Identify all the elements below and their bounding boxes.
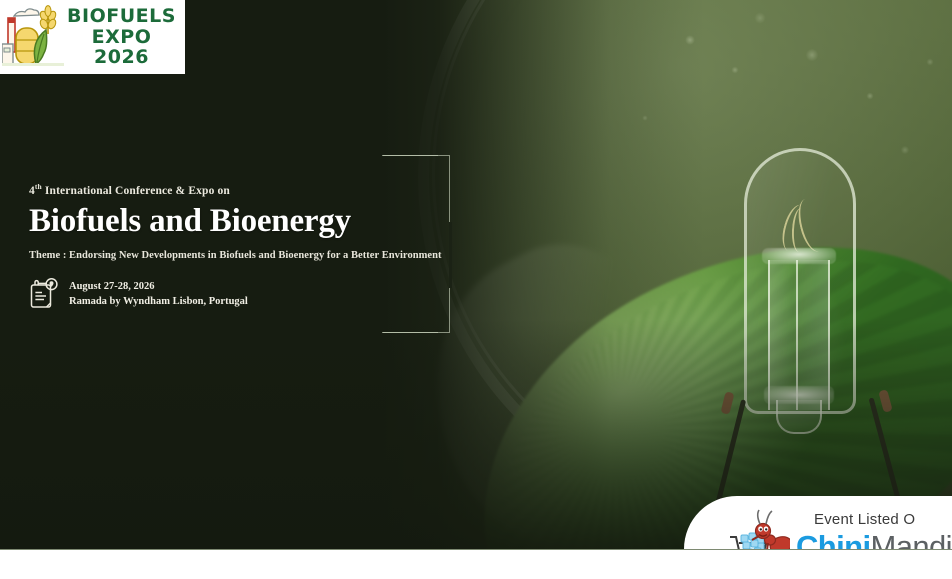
brand-part-mandi: Mandi bbox=[871, 529, 952, 549]
page-title: Biofuels and Bioenergy bbox=[29, 204, 449, 240]
conference-theme: Theme : Endorsing New Developments in Bi… bbox=[29, 250, 449, 261]
edition-ordinal: th bbox=[35, 182, 42, 191]
expo-logo-line1: BIOFUELS EXPO bbox=[64, 6, 179, 47]
biorefinery-wheat-icon bbox=[2, 4, 64, 70]
event-listed-label: Event Listed O bbox=[814, 511, 915, 528]
expo-logo-wordmark: BIOFUELS EXPO 2026 bbox=[64, 6, 179, 68]
edition-rest: International Conference & Expo on bbox=[42, 185, 230, 197]
event-meta-lines: August 27-28, 2026 Ramada by Wyndham Lis… bbox=[69, 279, 248, 309]
chinimandi-wordmark[interactable]: ChiniMandi bbox=[796, 531, 952, 549]
expo-logo-line2: 2026 bbox=[64, 47, 179, 68]
brand-part-chini: Chini bbox=[796, 529, 871, 549]
ant-with-sugar-cart-icon bbox=[728, 507, 790, 549]
partner-content[interactable]: Event Listed O ChiniMandi bbox=[728, 505, 952, 549]
expo-logo-badge[interactable]: BIOFUELS EXPO 2026 bbox=[0, 0, 185, 74]
partner-text: Event Listed O ChiniMandi bbox=[796, 505, 952, 549]
conference-edition-line: 4th International Conference & Expo on bbox=[29, 183, 449, 197]
event-venue: Ramada by Wyndham Lisbon, Portugal bbox=[69, 294, 248, 309]
clipboard-location-icon bbox=[29, 278, 59, 310]
hero-text-block: 4th International Conference & Expo on B… bbox=[29, 183, 449, 310]
event-meta: August 27-28, 2026 Ramada by Wyndham Lis… bbox=[29, 278, 449, 310]
page-whitespace bbox=[0, 549, 952, 579]
event-banner: BIOFUELS EXPO 2026 4th International Con… bbox=[0, 0, 952, 549]
decorative-bracket-gap bbox=[449, 222, 452, 288]
event-date: August 27-28, 2026 bbox=[69, 279, 248, 294]
